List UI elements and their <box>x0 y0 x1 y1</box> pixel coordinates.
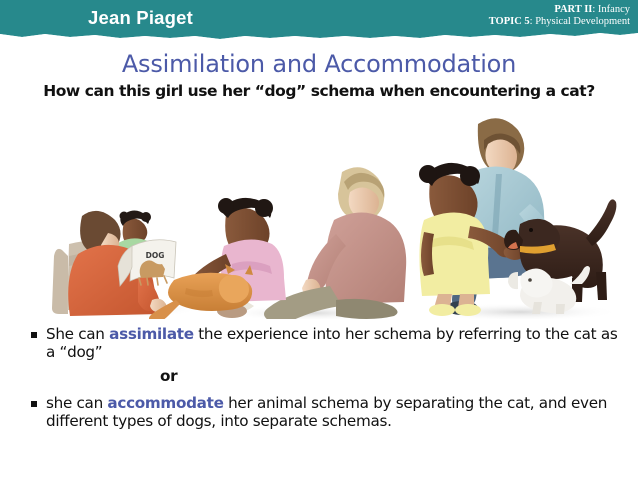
banner-part-line: PART II: Infancy <box>489 4 630 16</box>
illustration-svg: DOG <box>0 104 638 319</box>
banner-part-key: PART II <box>554 4 592 15</box>
panel-meeting-cat <box>149 167 406 319</box>
accommodate-keyword: accommodate <box>107 394 223 412</box>
banner-topic-line: TOPIC 5: Physical Development <box>489 16 630 28</box>
banner-topic-key: TOPIC 5 <box>489 16 530 27</box>
illustration-area: DOG <box>0 104 638 319</box>
slide-subtitle: How can this girl use her “dog” schema w… <box>0 82 638 100</box>
banner-part-value: : Infancy <box>592 4 630 15</box>
banner-title: Jean Piaget <box>88 7 193 29</box>
or-connector: or <box>0 367 638 385</box>
panel-two-dogs <box>419 118 620 319</box>
book-label-text: DOG <box>146 251 165 260</box>
bullet-square-icon <box>31 401 37 407</box>
slide-title: Assimilation and Accommodation <box>0 50 638 78</box>
bullet-square-icon <box>31 332 37 338</box>
assimilate-text-before: She can <box>46 325 109 343</box>
banner-topic-value: : Physical Development <box>530 16 630 27</box>
bullet-list: She can assimilate the experience into h… <box>0 326 638 431</box>
accommodate-text-before: she can <box>46 394 107 412</box>
assimilate-bullet: She can assimilate the experience into h… <box>0 326 638 362</box>
header-banner: Jean Piaget PART II: Infancy TOPIC 5: Ph… <box>0 0 638 40</box>
assimilate-keyword: assimilate <box>109 325 194 343</box>
accommodate-bullet: she can accommodate her animal schema by… <box>0 395 638 431</box>
banner-meta: PART II: Infancy TOPIC 5: Physical Devel… <box>489 4 630 29</box>
